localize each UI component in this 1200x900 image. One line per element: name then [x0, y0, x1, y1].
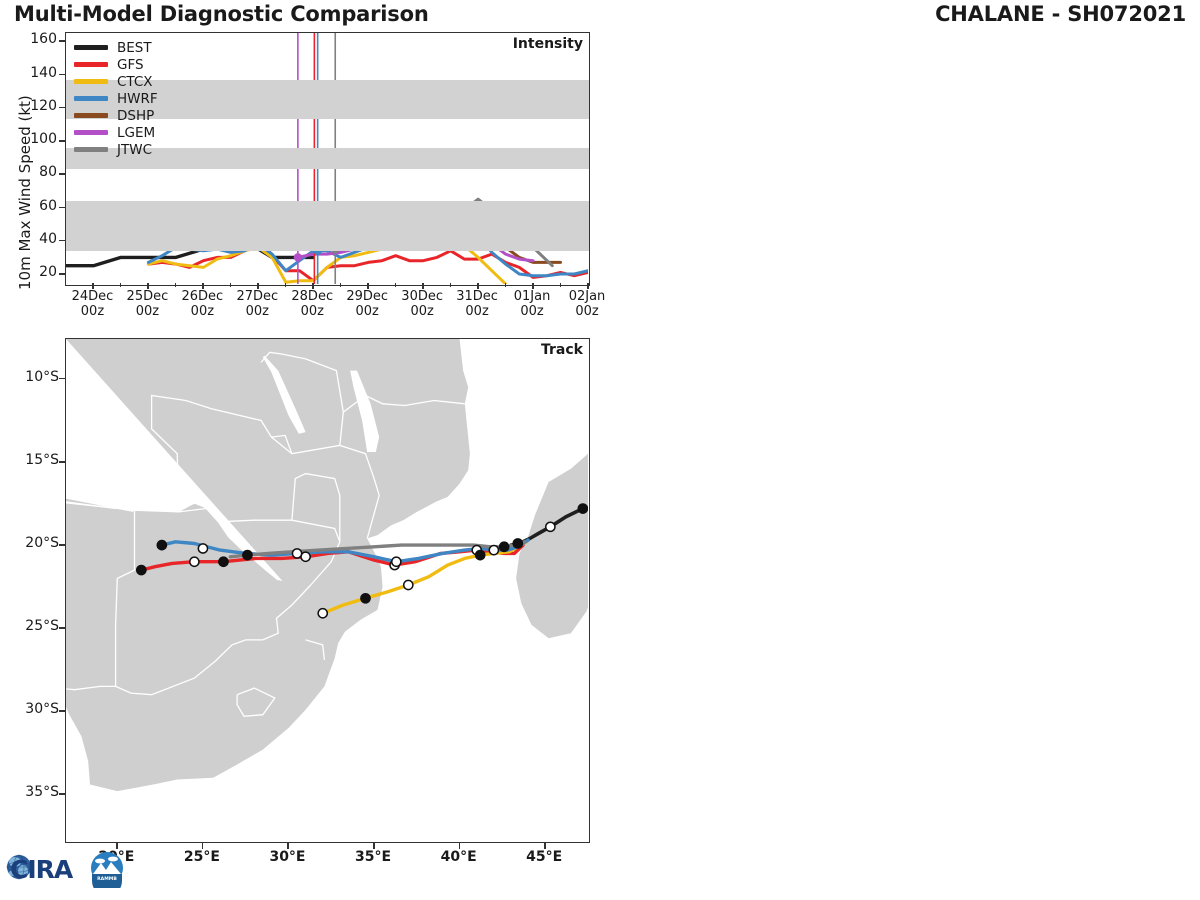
x-minor-tick	[285, 283, 286, 287]
x-minor-tick	[230, 283, 231, 287]
track-marker	[219, 557, 228, 566]
sst-panel: Sea Surface Temp (°C) 222426283032 SST G…	[600, 322, 1200, 602]
legend-item-jtwc[interactable]: JTWC	[74, 141, 158, 158]
track-marker	[137, 565, 146, 574]
y-tick-label: 120	[11, 98, 57, 114]
track-marker	[318, 609, 327, 618]
track-marker	[404, 580, 413, 589]
x-minor-tick	[505, 283, 506, 287]
x-tick-mark	[312, 283, 314, 289]
track-map	[66, 339, 588, 841]
x-tick-hour: 00z	[136, 304, 159, 319]
svg-text:RAMMB: RAMMB	[97, 876, 117, 882]
x-minor-tick	[340, 283, 341, 287]
x-tick-mark	[477, 283, 479, 289]
x-tick-day: 27Dec	[236, 289, 278, 304]
y-tick-label: 140	[11, 65, 57, 81]
legend-swatch-hwrf	[74, 96, 108, 101]
x-tick-hour: 00z	[465, 304, 488, 319]
lon-tick-label: 40°E	[423, 850, 495, 866]
intensity-panel: 10m Max Wind Speed (kt) 2040608010012014…	[0, 22, 600, 332]
y-tick-label: 40	[11, 231, 57, 247]
lon-tick-mark	[202, 843, 204, 849]
x-tick-mark	[532, 283, 534, 289]
x-tick-mark	[202, 283, 204, 289]
x-minor-tick	[560, 283, 561, 287]
x-minor-tick	[450, 283, 451, 287]
x-minor-tick	[395, 283, 396, 287]
x-minor-tick	[120, 283, 121, 287]
lon-tick-mark	[287, 843, 289, 849]
x-tick-mark	[147, 283, 149, 289]
lon-tick-mark	[544, 843, 546, 849]
track-marker	[489, 546, 498, 555]
legend-swatch-gfs	[74, 62, 108, 67]
x-tick-day: 29Dec	[346, 289, 388, 304]
x-tick-hour: 00z	[81, 304, 104, 319]
x-tick-day: 28Dec	[291, 289, 333, 304]
x-tick-hour: 00z	[301, 304, 324, 319]
legend-item-best[interactable]: BEST	[74, 39, 158, 56]
lon-tick-mark	[459, 843, 461, 849]
x-tick-hour: 00z	[191, 304, 214, 319]
x-tick-hour: 00z	[246, 304, 269, 319]
x-tick-mark	[92, 283, 94, 289]
legend-item-lgem[interactable]: LGEM	[74, 124, 158, 141]
x-tick-day: 31Dec	[456, 289, 498, 304]
legend-swatch-best	[74, 45, 108, 50]
x-tick-day: 30Dec	[401, 289, 443, 304]
intensity-plot-frame: Intensity BESTGFSCTCXHWRFDSHPLGEMJTWC	[65, 32, 590, 286]
rh-panel: 700-500 hPa Humidity (%) 20406080100 Mid…	[600, 600, 1200, 900]
legend-label: DSHP	[117, 108, 154, 124]
lon-tick-label: 35°E	[337, 850, 409, 866]
track-marker	[392, 557, 401, 566]
lat-tick-label: 30°S	[5, 701, 59, 717]
legend-label: JTWC	[117, 142, 152, 158]
x-tick-hour: 00z	[575, 304, 598, 319]
track-marker	[361, 594, 370, 603]
track-marker	[513, 539, 522, 548]
lon-tick-label: 25°E	[166, 850, 238, 866]
track-marker	[578, 504, 587, 513]
lat-tick-label: 35°S	[5, 784, 59, 800]
track-marker	[546, 522, 555, 531]
x-tick-hour: 00z	[410, 304, 433, 319]
x-tick-mark	[587, 283, 589, 289]
intensity-label: Intensity	[513, 36, 583, 52]
legend-item-hwrf[interactable]: HWRF	[74, 90, 158, 107]
legend-item-gfs[interactable]: GFS	[74, 56, 158, 73]
track-marker	[190, 557, 199, 566]
shear-panel: 200-850 hPa Shear (kt) 010203040 Deep-La…	[600, 22, 1200, 322]
lat-tick-label: 20°S	[5, 535, 59, 551]
legend-item-ctcx[interactable]: CTCX	[74, 73, 158, 90]
y-tick-label: 160	[11, 31, 57, 47]
legend-label: BEST	[117, 40, 152, 56]
lat-tick-label: 25°S	[5, 618, 59, 634]
lat-tick-label: 10°S	[5, 369, 59, 385]
x-tick-day: 01Jan	[514, 289, 551, 304]
legend-swatch-dshp	[74, 113, 108, 118]
cira-logo: CIRA RAMMB	[4, 842, 132, 888]
x-tick-hour: 00z	[356, 304, 379, 319]
track-marker	[292, 549, 301, 558]
track-panel: 10°S15°S20°S25°S30°S35°S Track 20°E25°E3…	[0, 330, 600, 890]
lat-tick-label: 15°S	[5, 452, 59, 468]
track-label: Track	[541, 342, 583, 358]
x-tick-mark	[422, 283, 424, 289]
init-point	[294, 253, 302, 261]
x-tick-day: 24Dec	[72, 289, 114, 304]
track-plot-frame: Track	[65, 338, 590, 843]
svg-text:CIRA: CIRA	[10, 855, 74, 884]
legend-item-dshp[interactable]: DSHP	[74, 107, 158, 124]
lon-tick-label: 30°E	[251, 850, 323, 866]
x-tick-mark	[367, 283, 369, 289]
y-tick-label: 100	[11, 131, 57, 147]
intensity-ylabel: 10m Max Wind Speed (kt)	[16, 95, 34, 290]
legend-swatch-lgem	[74, 130, 108, 135]
y-tick-label: 60	[11, 198, 57, 214]
track-marker	[157, 541, 166, 550]
shade-band	[66, 201, 589, 251]
legend-swatch-ctcx	[74, 79, 108, 84]
track-marker	[198, 544, 207, 553]
legend-label: GFS	[117, 57, 144, 73]
x-minor-tick	[175, 283, 176, 287]
x-tick-hour: 00z	[520, 304, 543, 319]
lon-tick-label: 45°E	[508, 850, 580, 866]
legend-label: HWRF	[117, 91, 158, 107]
y-tick-label: 20	[11, 264, 57, 280]
y-tick-label: 80	[11, 164, 57, 180]
legend-label: CTCX	[117, 74, 153, 90]
legend-swatch-jtwc	[74, 147, 108, 152]
intensity-legend: BESTGFSCTCXHWRFDSHPLGEMJTWC	[74, 39, 158, 158]
legend-label: LGEM	[117, 125, 155, 141]
track-marker	[243, 550, 252, 559]
landmass-africa	[66, 339, 470, 791]
track-marker	[476, 550, 485, 559]
x-tick-mark	[257, 283, 259, 289]
track-marker	[500, 542, 509, 551]
x-tick-day: 25Dec	[127, 289, 169, 304]
lon-tick-mark	[373, 843, 375, 849]
x-tick-day: 26Dec	[182, 289, 224, 304]
